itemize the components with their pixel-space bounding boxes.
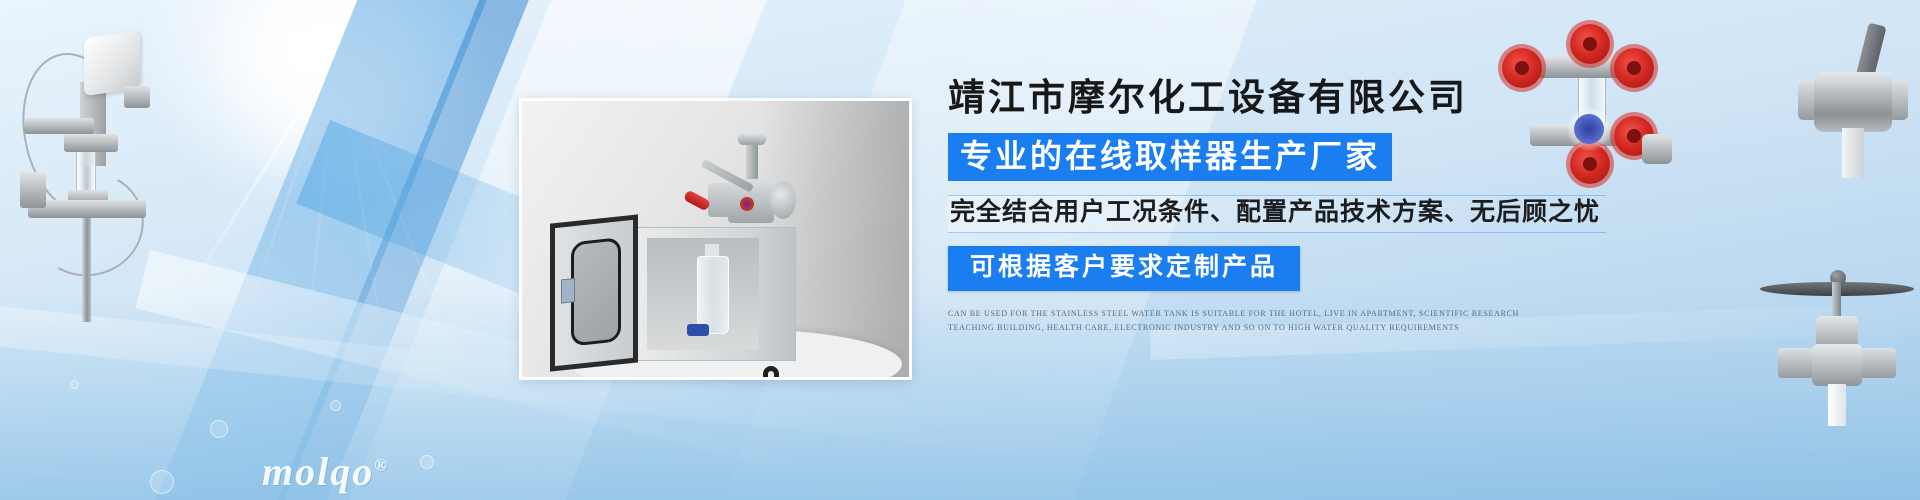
cabinet-door: [550, 214, 638, 371]
valve-flange: [64, 134, 118, 152]
valve-lever-red-grip: [683, 190, 711, 212]
custom-product-button[interactable]: 可根据客户要求定制产品: [948, 246, 1300, 291]
water-bubble: [330, 400, 341, 411]
valve-flange-left: [708, 183, 730, 217]
valve-knob: [738, 133, 766, 145]
valve-flange: [24, 118, 94, 134]
sampling-valve-assembly: [710, 139, 794, 229]
door-window: [571, 237, 621, 346]
headline-badge: 专业的在线取样器生产厂家: [948, 133, 1392, 181]
right-lever-valve-image: [1800, 28, 1920, 188]
cabinet-handle: [763, 366, 779, 380]
registered-mark-icon: ®: [374, 456, 389, 475]
valve-outlet: [1828, 384, 1846, 426]
watermark-logo: molqo®: [262, 448, 389, 495]
center-product-photo: [519, 98, 912, 380]
blue-cap: [687, 324, 709, 336]
promo-banner: 靖江市摩尔化工设备有限公司 专业的在线取样器生产厂家 完全结合用户工况条件、配置…: [0, 0, 1920, 500]
brand-emblem-icon: [740, 197, 754, 211]
valve-body: [1814, 72, 1892, 132]
english-description: CAN BE USED FOR THE STAINLESS STEEL WATE…: [948, 307, 1548, 335]
valve-flange-right: [770, 181, 796, 219]
valve-outlet: [1842, 128, 1864, 178]
valve-stem: [746, 141, 758, 183]
sample-bottle: [697, 256, 729, 334]
valve-flange: [124, 86, 150, 108]
subline-text: 完全结合用户工况条件、配置产品技术方案、无后顾之忧: [948, 195, 1606, 233]
door-lock: [561, 278, 575, 303]
left-product-image: [6, 22, 166, 322]
valve-flange-right: [1860, 348, 1896, 378]
handwheel-icon: [1570, 24, 1610, 64]
water-bubble: [150, 470, 174, 494]
banner-text-block: 靖江市摩尔化工设备有限公司 专业的在线取样器生产厂家 完全结合用户工况条件、配置…: [948, 74, 1728, 335]
watermark-text: molqo: [262, 449, 374, 494]
water-bubble: [420, 455, 434, 469]
water-bubble: [210, 420, 228, 438]
sampling-cabinet: [634, 227, 796, 361]
company-name: 靖江市摩尔化工设备有限公司: [948, 74, 1728, 124]
water-bubble: [70, 380, 79, 389]
valve-body: [1812, 344, 1862, 386]
relief-valve: [20, 172, 46, 208]
valve-flange-left: [1778, 348, 1814, 378]
right-gate-valve-image: [1772, 238, 1902, 388]
